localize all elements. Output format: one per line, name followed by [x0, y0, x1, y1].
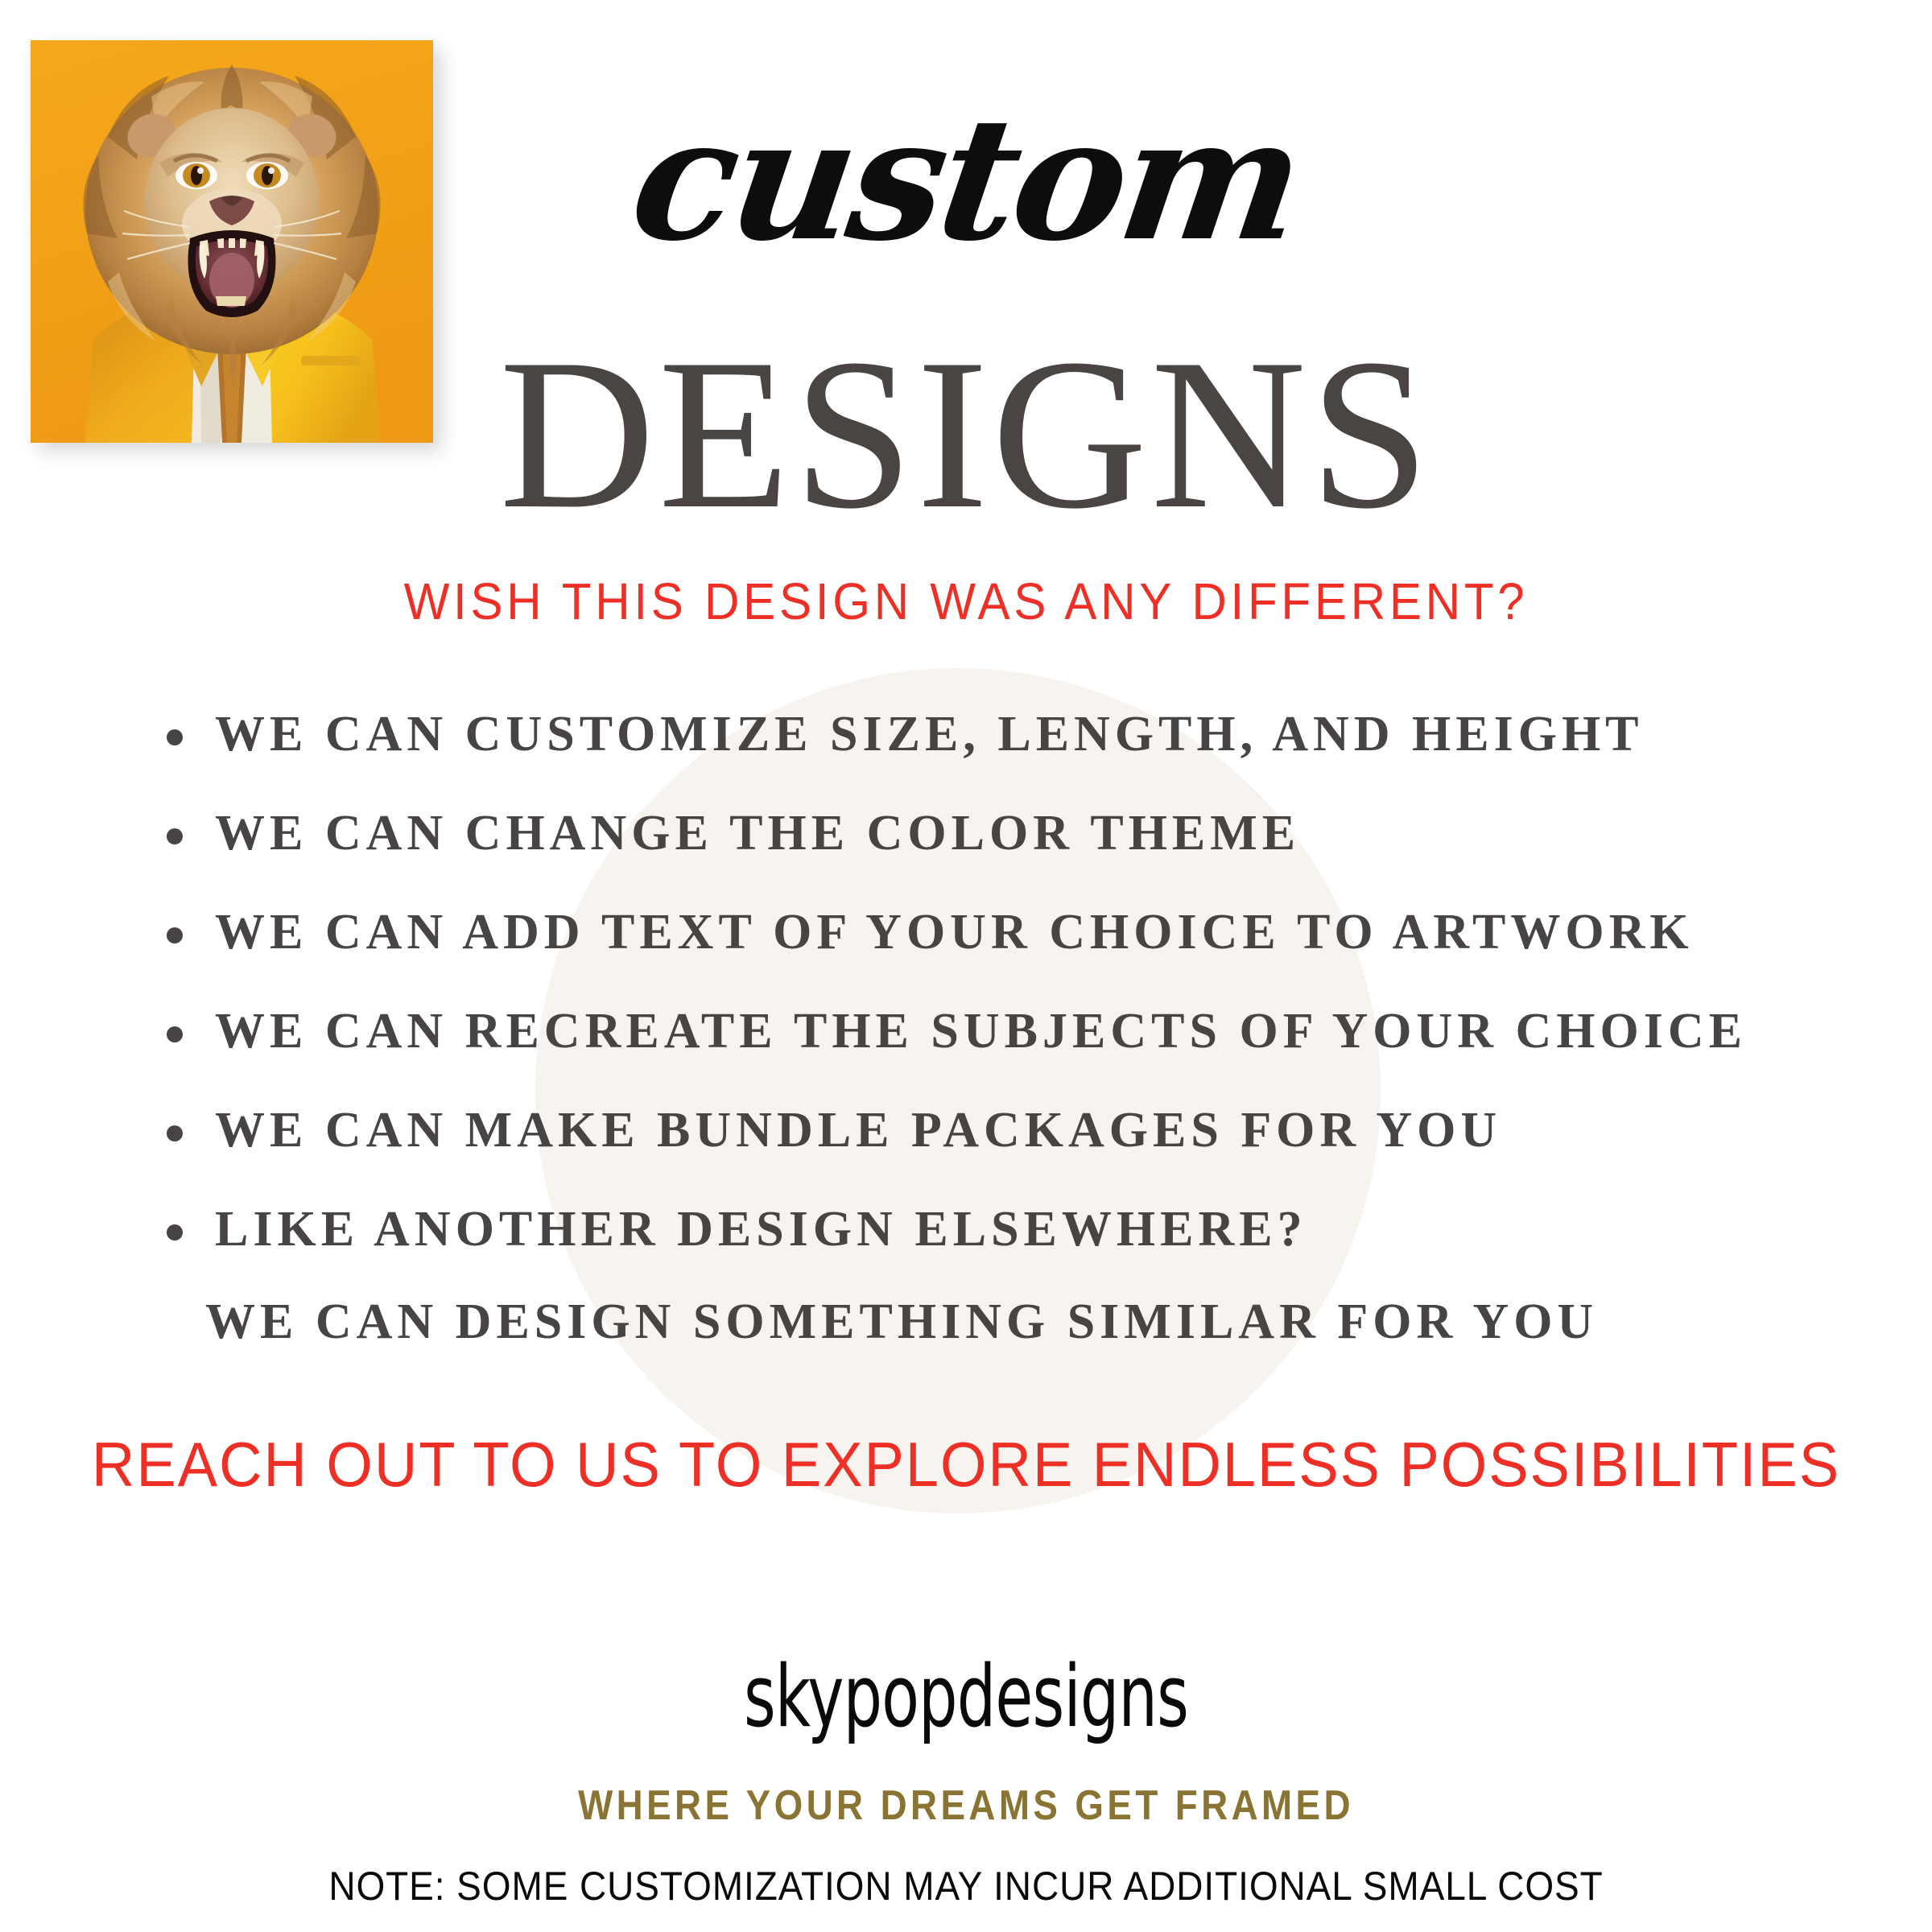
list-item: WE CAN CHANGE THE COLOR THEME	[157, 807, 1831, 860]
sub-question: WISH THIS DESIGN WAS ANY DIFFERENT?	[58, 576, 1874, 627]
list-item-label: LIKE ANOTHER DESIGN ELSEWHERE?	[215, 1202, 1307, 1257]
poster-canvas: custom DESIGNS WISH THIS DESIGN WAS ANY …	[0, 0, 1932, 1932]
list-item: LIKE ANOTHER DESIGN ELSEWHERE?	[157, 1203, 1831, 1256]
list-item-label: WE CAN ADD TEXT OF YOUR CHOICE TO ARTWOR…	[215, 905, 1694, 960]
brand-tagline: WHERE YOUR DREAMS GET FRAMED	[116, 1785, 1816, 1827]
bullet-icon	[167, 729, 183, 745]
bullet-icon	[167, 1125, 183, 1141]
lion-portrait-icon	[31, 40, 433, 443]
cta-text: REACH OUT TO US TO EXPLORE ENDLESS POSSI…	[48, 1433, 1884, 1496]
bullet-icon	[167, 828, 183, 844]
continuation-line: WE CAN DESIGN SOMETHING SIMILAR FOR YOU	[205, 1296, 1598, 1348]
list-item: WE CAN MAKE BUNDLE PACKAGES FOR YOU	[157, 1104, 1831, 1157]
brand-name: skypopdesigns	[193, 1654, 1739, 1740]
list-item: WE CAN RECREATE THE SUBJECTS OF YOUR CHO…	[157, 1005, 1831, 1058]
feature-list: WE CAN CUSTOMIZE SIZE, LENGTH, AND HEIGH…	[157, 708, 1831, 1303]
list-item-label: WE CAN CHANGE THE COLOR THEME	[215, 806, 1300, 861]
product-image-card[interactable]	[31, 40, 433, 443]
list-item-label: WE CAN CUSTOMIZE SIZE, LENGTH, AND HEIGH…	[215, 707, 1644, 762]
bullet-icon	[167, 1026, 183, 1042]
list-item-label: WE CAN RECREATE THE SUBJECTS OF YOUR CHO…	[215, 1004, 1747, 1059]
bullet-icon	[167, 1224, 183, 1241]
list-item: WE CAN ADD TEXT OF YOUR CHOICE TO ARTWOR…	[157, 906, 1831, 959]
footer-note: NOTE: SOME CUSTOMIZATION MAY INCUR ADDIT…	[77, 1866, 1855, 1906]
list-item: WE CAN CUSTOMIZE SIZE, LENGTH, AND HEIGH…	[157, 708, 1831, 761]
bullet-icon	[167, 927, 183, 943]
list-item-label: WE CAN MAKE BUNDLE PACKAGES FOR YOU	[215, 1103, 1501, 1158]
